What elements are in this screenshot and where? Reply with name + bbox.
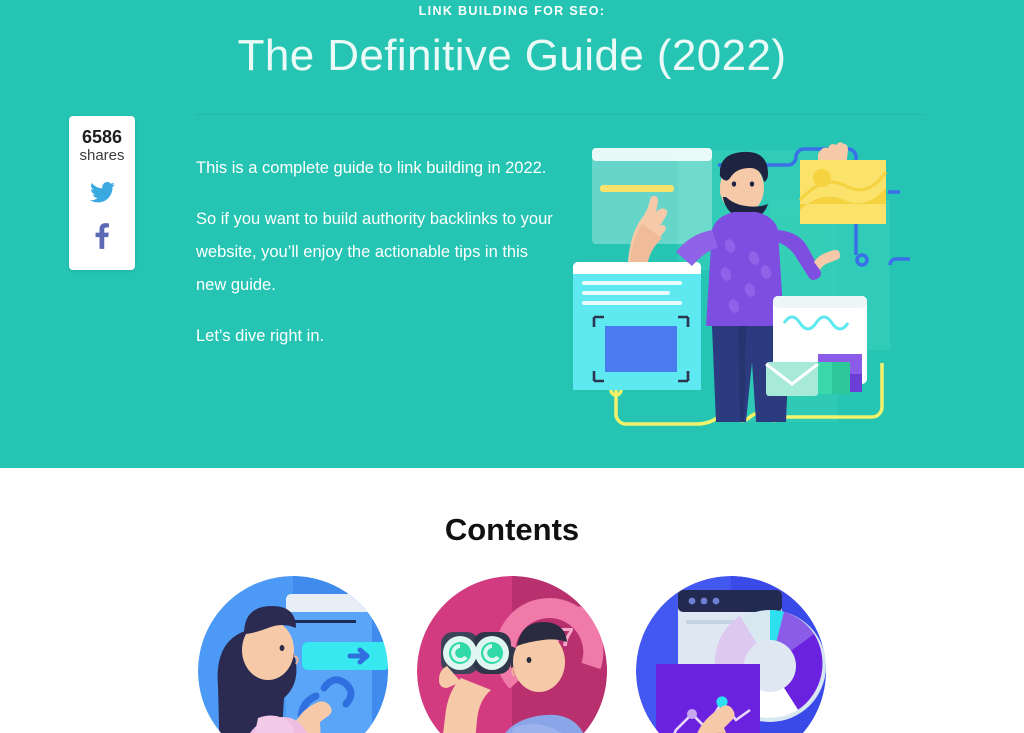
- hero-paragraph: Let’s dive right in.: [196, 320, 556, 353]
- twitter-icon[interactable]: [90, 182, 115, 208]
- facebook-icon[interactable]: [95, 223, 109, 254]
- share-count: 6586: [82, 127, 122, 147]
- contents-card-1[interactable]: [198, 576, 388, 733]
- page-title: The Definitive Guide (2022): [0, 31, 1024, 81]
- share-label: shares: [79, 147, 124, 165]
- share-box: 6586 shares: [69, 116, 135, 270]
- contents-heading: Contents: [0, 512, 1024, 548]
- contents-card-2[interactable]: 87: [417, 576, 607, 733]
- contents-card-3[interactable]: [636, 576, 826, 733]
- hero-section: LINK BUILDING FOR SEO: The Definitive Gu…: [0, 0, 1024, 468]
- hero-paragraph: So if you want to build authority backli…: [196, 203, 556, 302]
- woman-browser-magnet-illustration: [198, 576, 388, 733]
- link-building-hero-illustration: [570, 140, 910, 432]
- contents-card-list: 87: [0, 576, 1024, 733]
- page-root: LINK BUILDING FOR SEO: The Definitive Gu…: [0, 0, 1024, 733]
- hero-eyebrow: LINK BUILDING FOR SEO:: [0, 4, 1024, 18]
- hero-paragraph: This is a complete guide to link buildin…: [196, 152, 556, 185]
- hero-divider: [196, 114, 925, 115]
- contents-section: Contents: [0, 468, 1024, 733]
- man-binoculars-score-illustration: 87: [417, 576, 607, 733]
- analytics-dashboard-illustration: [636, 576, 826, 733]
- hero-body-copy: This is a complete guide to link buildin…: [196, 152, 556, 353]
